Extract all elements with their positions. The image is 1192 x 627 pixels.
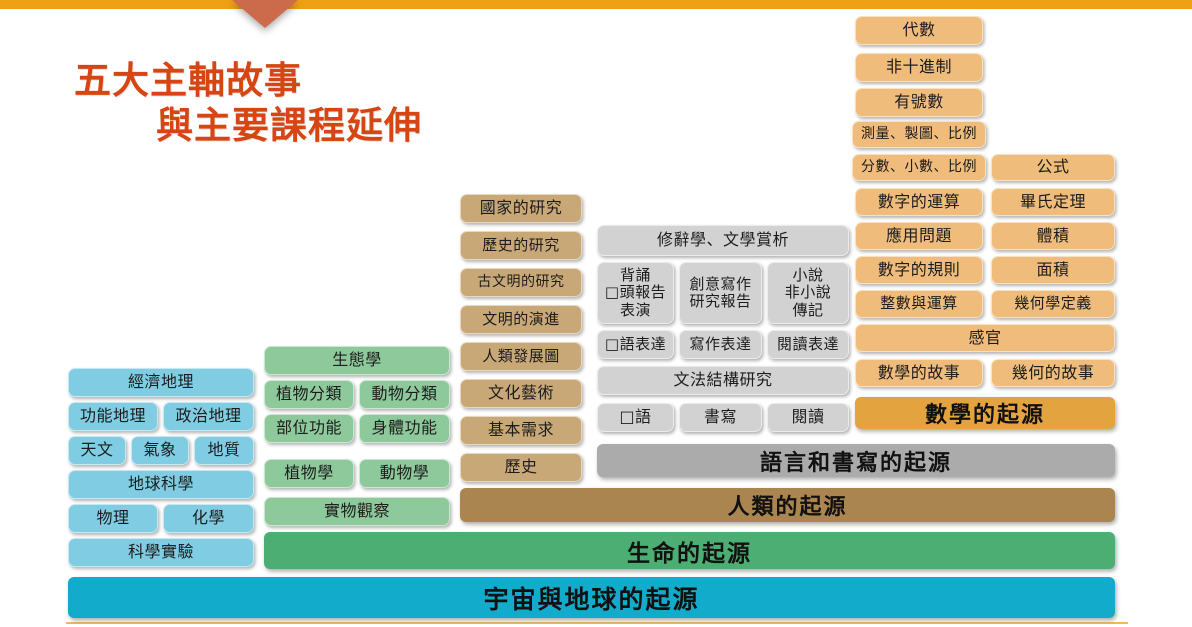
math-item-volume[interactable]: 體積 <box>991 222 1115 250</box>
math-item-math-story[interactable]: 數學的故事 <box>855 359 983 387</box>
math-item-area[interactable]: 面積 <box>991 256 1115 284</box>
math-item-pythagorean-theorem[interactable]: 畢氏定理 <box>991 188 1115 216</box>
bio-item-body-function[interactable]: 身體功能 <box>359 414 450 443</box>
human-item-history-study[interactable]: 歷史的研究 <box>460 231 582 260</box>
lang-item-reading-expression[interactable]: 閱讀表達 <box>767 330 849 359</box>
human-item-culture-art[interactable]: 文化藝術 <box>460 379 582 408</box>
math-item-geometry-story[interactable]: 幾何的故事 <box>991 359 1115 387</box>
earth-item-chemistry[interactable]: 化學 <box>163 504 254 533</box>
earth-item-physics[interactable]: 物理 <box>68 504 158 533</box>
lang-item-oral-expression[interactable]: □語表達 <box>597 330 674 359</box>
math-item-integers-operations[interactable]: 整數與運算 <box>855 290 983 318</box>
human-item-ancient-civilization-study[interactable]: 古文明的研究 <box>460 268 582 297</box>
page-title-line-1: 五大主軸故事 <box>74 58 422 103</box>
lang-item-grammar-structure-study[interactable]: 文法結構研究 <box>597 366 849 395</box>
human-item-country-study[interactable]: 國家的研究 <box>460 194 582 223</box>
bio-item-zoology[interactable]: 動物學 <box>359 459 450 488</box>
bio-item-ecology[interactable]: 生態學 <box>264 346 450 375</box>
math-item-measurement-drawing-ratio[interactable]: 測量、製圖、比例 <box>852 121 986 148</box>
lang-item-oral[interactable]: □語 <box>597 403 674 432</box>
earth-item-economic-geography[interactable]: 經濟地理 <box>68 368 254 397</box>
earth-item-earth-science[interactable]: 地球科學 <box>68 470 254 499</box>
lang-item-reading[interactable]: 閱讀 <box>767 403 849 432</box>
foundation-bar-life[interactable]: 生命的起源 <box>264 532 1115 569</box>
lang-item-writing[interactable]: 書寫 <box>679 403 762 432</box>
math-item-algebra[interactable]: 代數 <box>855 16 983 45</box>
math-item-number-operations[interactable]: 數字的運算 <box>855 188 983 216</box>
foundation-bar-math[interactable]: 數學的起源 <box>855 397 1115 429</box>
math-item-number-rules[interactable]: 數字的規則 <box>855 256 983 284</box>
page-title-line-2: 與主要課程延伸 <box>74 103 422 148</box>
bio-item-plant-classification[interactable]: 植物分類 <box>264 380 354 409</box>
bio-item-object-observation[interactable]: 實物觀察 <box>264 497 450 526</box>
earth-item-functional-geography[interactable]: 功能地理 <box>68 402 158 431</box>
human-item-basic-needs[interactable]: 基本需求 <box>460 416 582 445</box>
bio-item-botany[interactable]: 植物學 <box>264 459 354 488</box>
lang-item-recitation-oral-report-performance[interactable]: 背誦 □頭報告 表演 <box>597 262 674 324</box>
human-item-history[interactable]: 歷史 <box>460 453 582 482</box>
earth-item-science-experiment[interactable]: 科學實驗 <box>68 538 254 567</box>
earth-item-political-geography[interactable]: 政治地理 <box>163 402 254 431</box>
math-item-signed-numbers[interactable]: 有號數 <box>855 88 983 117</box>
top-accent-bar <box>0 0 1192 9</box>
bio-item-animal-classification[interactable]: 動物分類 <box>359 380 450 409</box>
math-item-geometry-definitions[interactable]: 幾何學定義 <box>991 290 1115 318</box>
page-title: 五大主軸故事 與主要課程延伸 <box>74 58 422 148</box>
down-triangle-icon <box>232 0 298 28</box>
foundation-bar-human[interactable]: 人類的起源 <box>460 488 1115 522</box>
human-item-human-development-chart[interactable]: 人類發展圖 <box>460 342 582 371</box>
earth-item-geology[interactable]: 地質 <box>194 436 254 465</box>
foundation-bar-language[interactable]: 語言和書寫的起源 <box>597 444 1115 477</box>
earth-item-astronomy[interactable]: 天文 <box>68 436 126 465</box>
lang-item-fiction-nonfiction-biography[interactable]: 小說 非小說 傳記 <box>767 262 849 324</box>
math-item-fraction-decimal-ratio[interactable]: 分數、小數、比例 <box>852 154 986 181</box>
math-item-non-decimal-system[interactable]: 非十進制 <box>855 53 983 82</box>
earth-item-meteorology[interactable]: 氣象 <box>131 436 189 465</box>
lang-item-writing-expression[interactable]: 寫作表達 <box>679 330 762 359</box>
lang-item-creative-writing-research-report[interactable]: 創意寫作 研究報告 <box>679 262 762 324</box>
math-item-senses[interactable]: 感官 <box>855 324 1115 352</box>
bottom-accent-line <box>66 622 1128 624</box>
math-item-formula[interactable]: 公式 <box>991 154 1115 181</box>
bio-item-part-function[interactable]: 部位功能 <box>264 414 354 443</box>
foundation-bar-universe[interactable]: 宇宙與地球的起源 <box>68 577 1115 618</box>
lang-item-rhetoric-literary-appreciation[interactable]: 修辭學、文學賞析 <box>597 225 849 256</box>
human-item-civilization-evolution[interactable]: 文明的演進 <box>460 305 582 334</box>
math-item-applied-problems[interactable]: 應用問題 <box>855 222 983 250</box>
